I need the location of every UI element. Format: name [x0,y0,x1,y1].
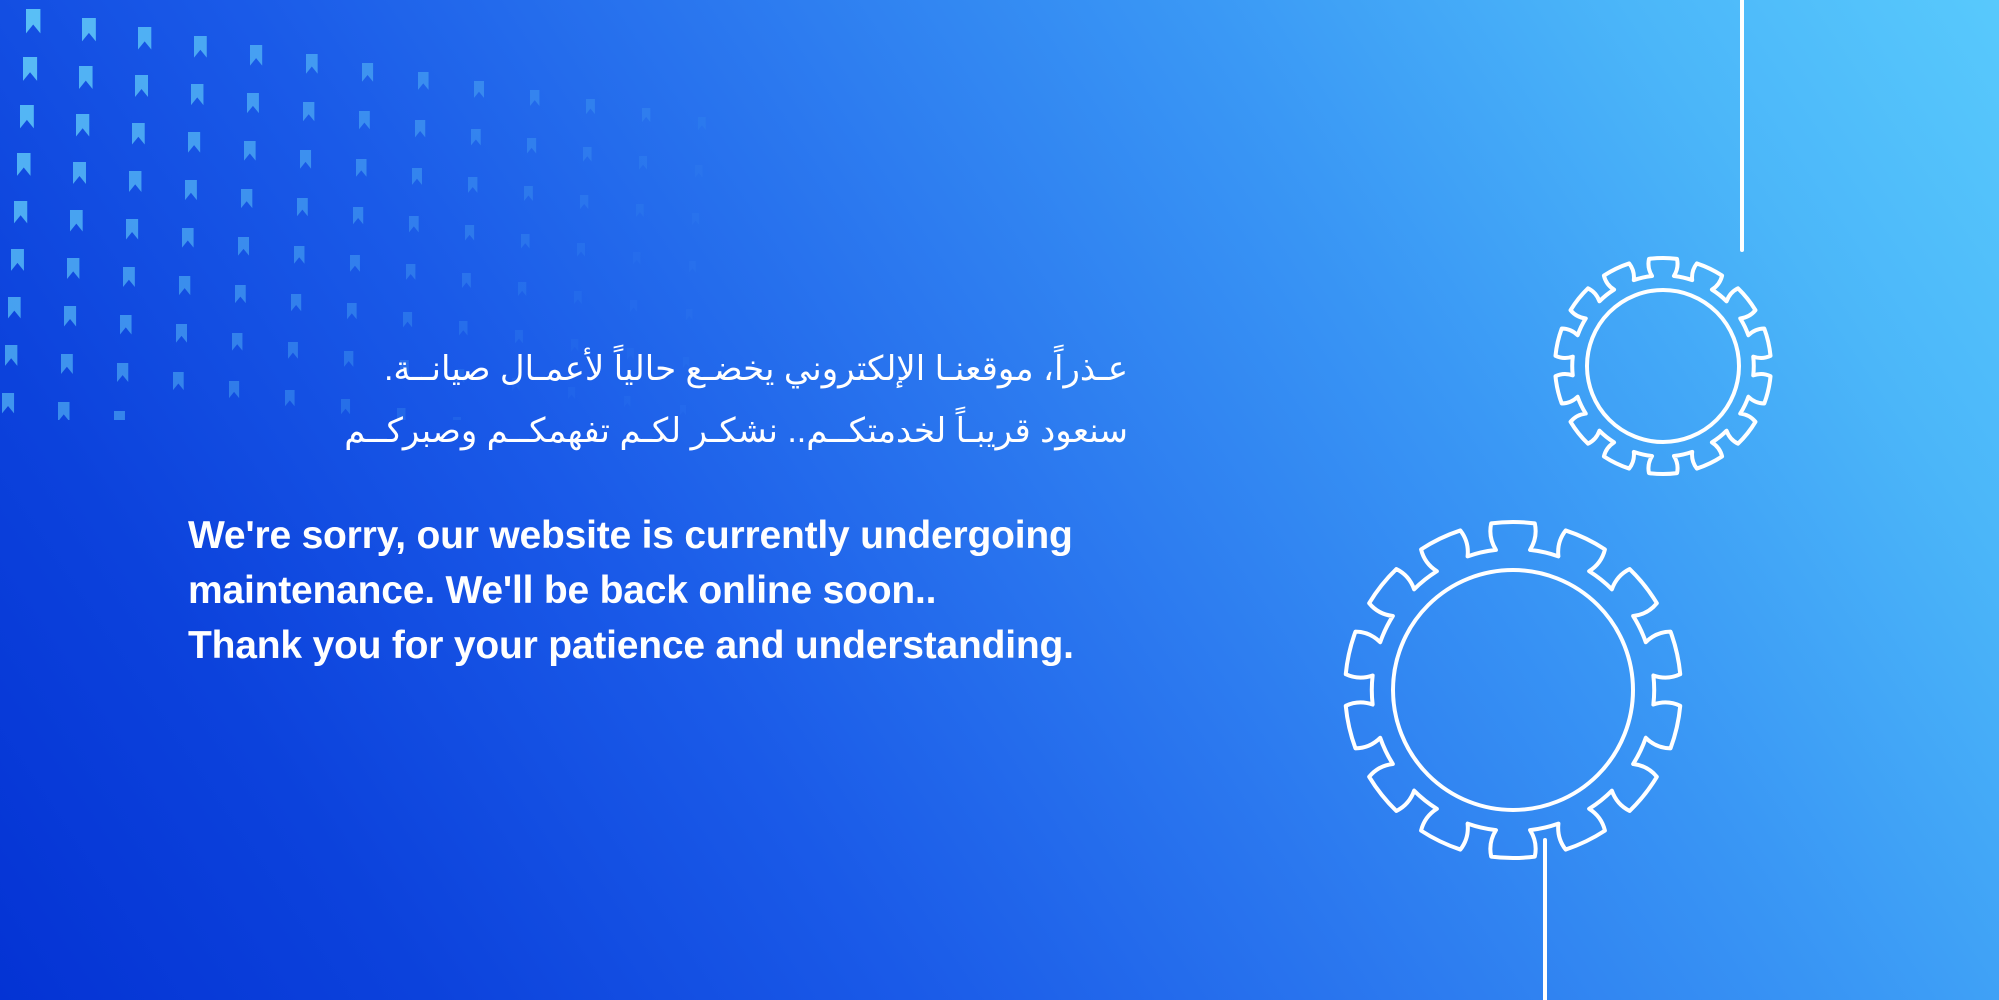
english-message-line-2: maintenance. We'll be back online soon.. [188,563,1188,618]
large-gear-outline [1346,522,1681,858]
english-message-line-3: Thank you for your patience and understa… [188,618,1188,673]
small-gear-outline [1555,258,1770,474]
small-gear-inner-circle [1587,290,1739,442]
large-gear-inner-circle [1393,570,1633,810]
english-message: We're sorry, our website is currently un… [188,508,1188,673]
maintenance-message-block: عـذراً، موقعنـا الإلكتروني يخضـع حالياً … [188,338,1188,673]
maintenance-page: عـذراً، موقعنـا الإلكتروني يخضـع حالياً … [0,0,1999,1000]
arabic-message-line-2: سنعود قريبـاً لخدمتكــم.. نشكـر لكـم تفه… [188,400,1128,462]
english-message-line-1: We're sorry, our website is currently un… [188,508,1188,563]
arabic-message-line-1: عـذراً، موقعنـا الإلكتروني يخضـع حالياً … [188,338,1128,400]
arabic-message: عـذراً، موقعنـا الإلكتروني يخضـع حالياً … [188,338,1128,462]
